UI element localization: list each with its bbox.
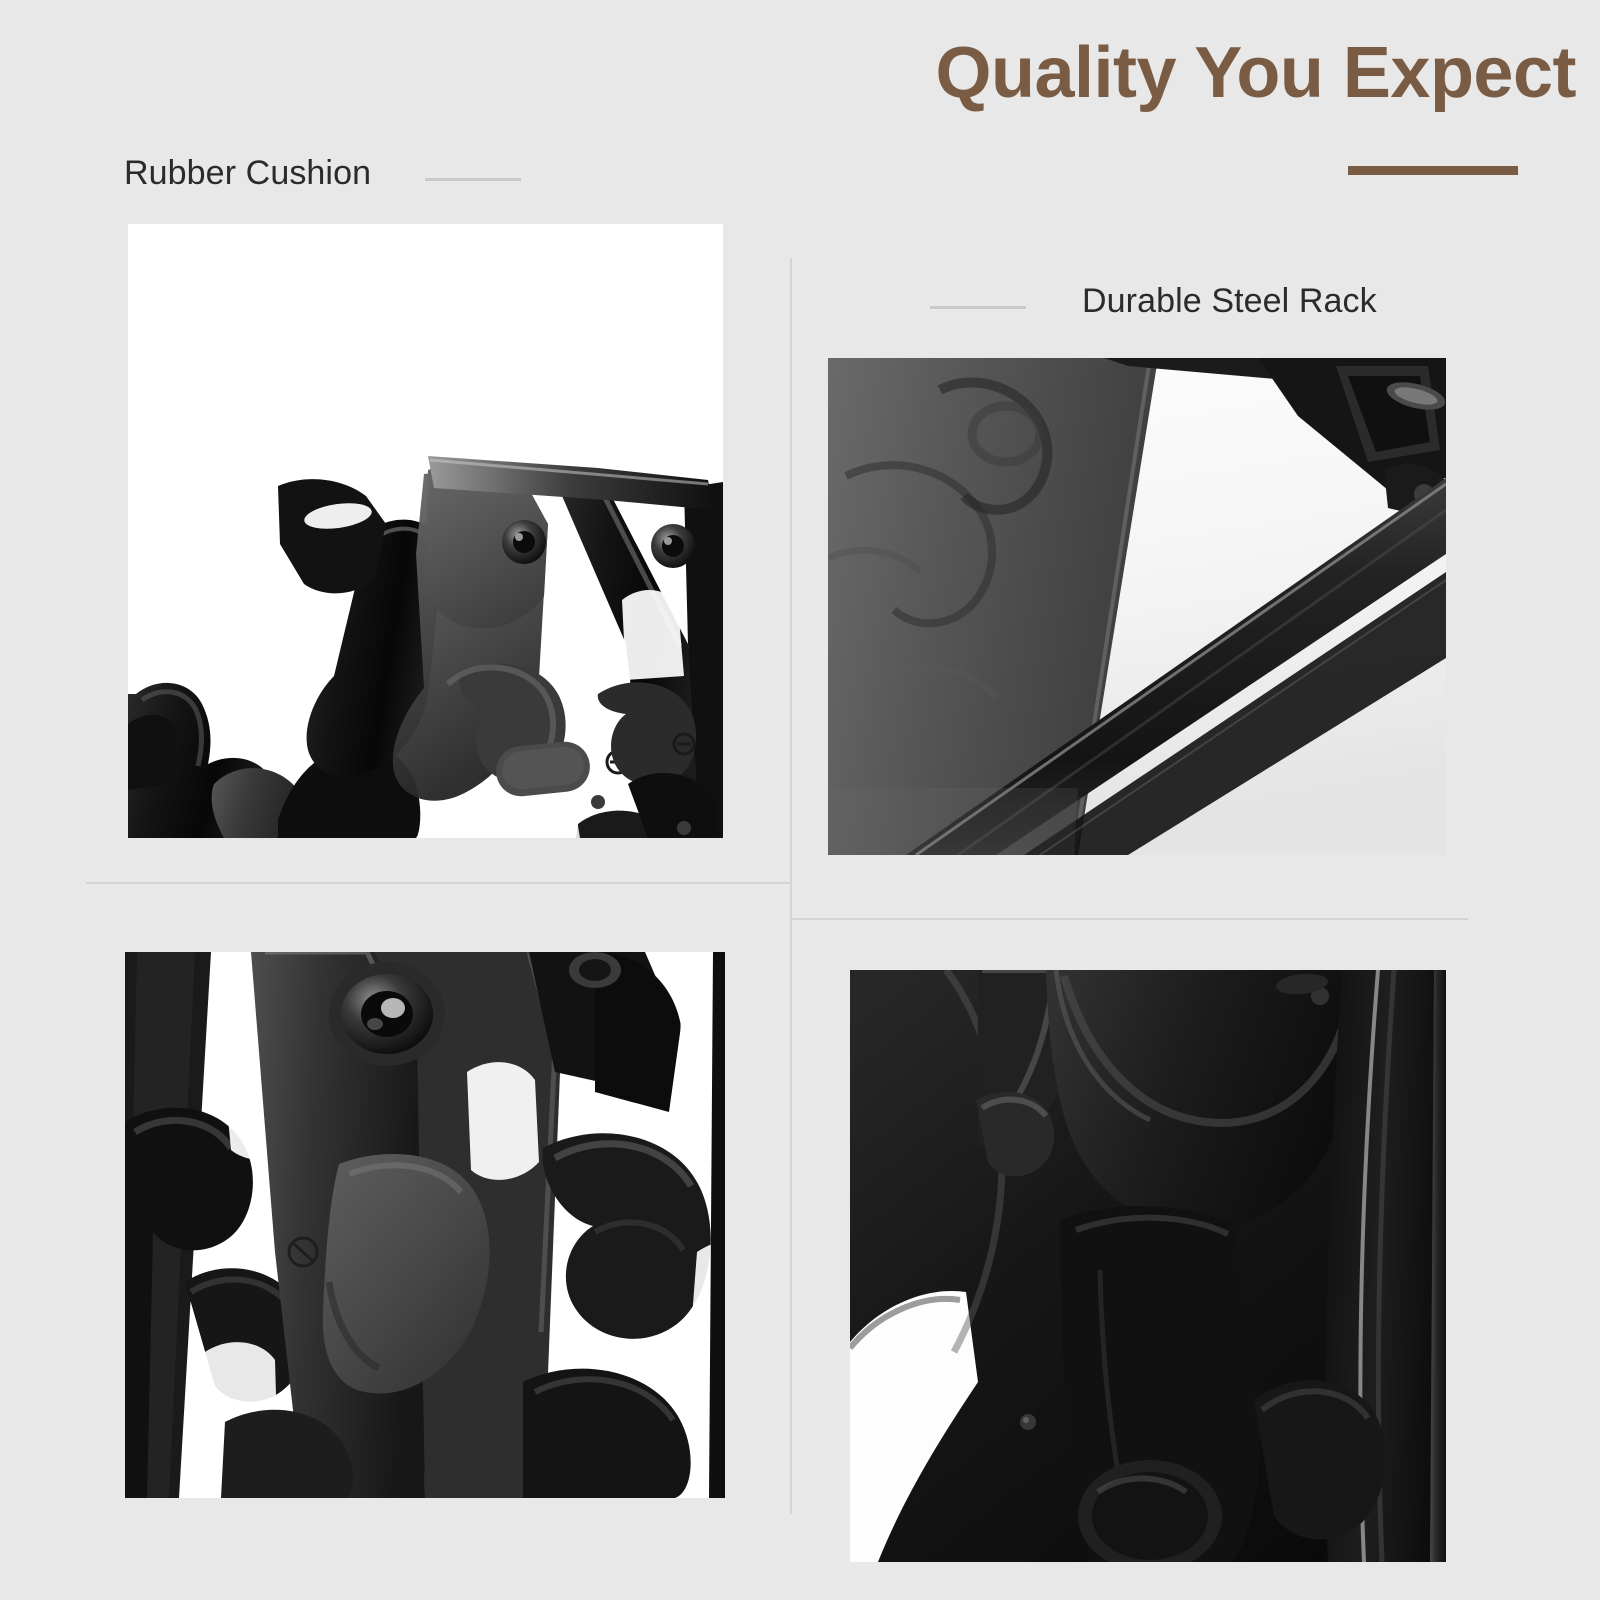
feature-label-rubber-cushion: Rubber Cushion (124, 154, 371, 193)
page-title: Quality You Expect (935, 36, 1576, 112)
photo-tr-artwork (828, 358, 1446, 855)
photo-br-artwork (850, 970, 1446, 1562)
photo-bl-artwork (125, 952, 725, 1498)
feature-label-rule-left (425, 178, 521, 181)
feature-label-durable-steel-rack: Durable Steel Rack (1082, 282, 1377, 321)
product-photo-rubber-cushion-bottom (125, 952, 725, 1498)
photo-tl-artwork (128, 224, 723, 838)
product-photo-rubber-cushion-top (128, 224, 723, 838)
divider-horizontal-right (790, 918, 1468, 920)
product-photo-steel-rack-bottom (850, 970, 1446, 1562)
divider-vertical (790, 258, 792, 1514)
title-underline-rule (1348, 166, 1518, 175)
product-photo-steel-rack-top (828, 358, 1446, 855)
feature-label-rule-right (930, 306, 1026, 309)
promo-panel: Quality You Expect Rubber Cushion Durabl… (0, 0, 1600, 1600)
divider-horizontal-left (86, 882, 791, 884)
